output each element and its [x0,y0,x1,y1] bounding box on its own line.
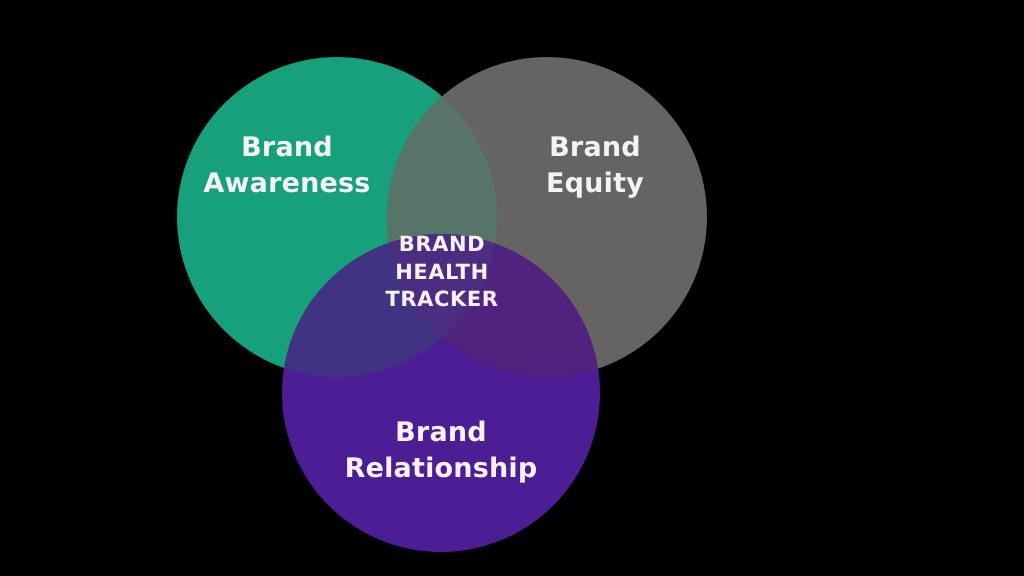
venn-diagram: Brand Awareness Brand Equity Brand Relat… [0,0,1024,576]
venn-circles-graphic [0,0,1024,576]
